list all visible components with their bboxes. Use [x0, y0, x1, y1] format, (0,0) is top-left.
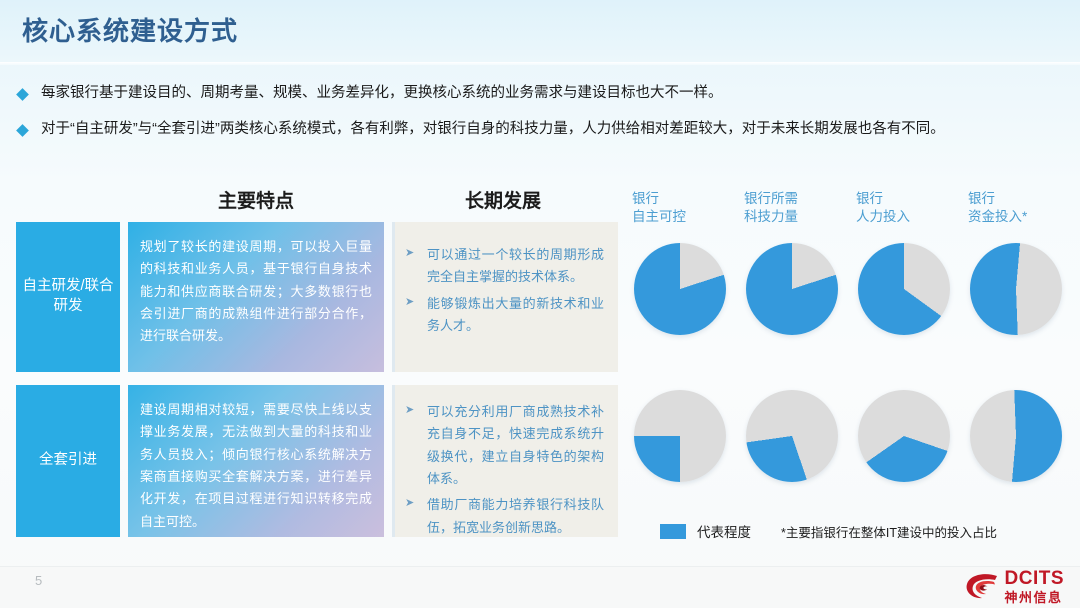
pie-heading-line1: 银行: [632, 190, 736, 208]
page-number: 5: [35, 573, 42, 588]
pie-heading-line2: 资金投入*: [968, 208, 1072, 226]
diamond-bullet-icon: [16, 124, 29, 137]
pie-slot: [624, 390, 736, 482]
legend-label: 代表程度: [697, 521, 751, 541]
row-label-self-develop: 自主研发/联合研发: [16, 222, 120, 372]
column-heading-features: 主要特点: [128, 186, 384, 213]
bullet-list: 每家银行基于建设目的、周期考量、规模、业务差异化，更换核心系统的业务需求与建设目…: [18, 84, 1068, 156]
pie-heading-line2: 人力投入: [856, 208, 960, 226]
pie-heading-line2: 自主可控: [632, 208, 736, 226]
dcits-swirl-icon: [964, 572, 1000, 602]
bullet-item: 每家银行基于建设目的、周期考量、规模、业务差异化，更换核心系统的业务需求与建设目…: [18, 84, 1068, 103]
pie-heading-tech-power: 银行所需 科技力量: [736, 190, 848, 226]
header-divider: [0, 62, 1080, 65]
list-item: ➤ 借助厂商能力培养银行科技队伍，拓宽业务创新思路。: [405, 494, 604, 539]
pie-chart: [746, 390, 838, 482]
chart-legend: 代表程度 *主要指银行在整体IT建设中的投入占比: [660, 521, 997, 541]
pie-chart: [970, 243, 1062, 335]
pie-heading-self-control: 银行 自主可控: [624, 190, 736, 226]
diamond-bullet-icon: [16, 88, 29, 101]
pie-chart-row-self-develop: [624, 243, 1074, 335]
bullet-text: 对于“自主研发”与“全套引进”两类核心系统模式，各有利弊，对银行自身的科技力量，…: [41, 120, 945, 139]
pie-chart: [858, 243, 950, 335]
pie-slot: [736, 390, 848, 482]
row-longterm-list: ➤ 可以通过一个较长的周期形成完全自主掌握的技术体系。 ➤ 能够锻炼出大量的新技…: [392, 222, 618, 372]
logo-text-cn: 神州信息: [1005, 591, 1065, 604]
legend-footnote: *主要指银行在整体IT建设中的投入占比: [781, 522, 997, 541]
list-item: ➤ 可以通过一个较长的周期形成完全自主掌握的技术体系。: [405, 244, 604, 289]
pie-chart-row-full-import: [624, 390, 1074, 482]
pie-slot: [960, 243, 1072, 335]
row-longterm-list: ➤ 可以充分利用厂商成熟技术补充自身不足，快速完成系统升级换代，建立自身特色的架…: [392, 385, 618, 537]
pie-chart: [858, 390, 950, 482]
bullet-text: 每家银行基于建设目的、周期考量、规模、业务差异化，更换核心系统的业务需求与建设目…: [41, 84, 723, 103]
list-item: ➤ 能够锻炼出大量的新技术和业务人才。: [405, 293, 604, 338]
company-logo: DCITS 神州信息: [964, 569, 1065, 604]
pie-heading-line1: 银行: [968, 190, 1072, 208]
matrix-row: 自主研发/联合研发 规划了较长的建设周期，可以投入巨量的科技和业务人员，基于银行…: [16, 222, 618, 372]
pie-heading-line2: 科技力量: [744, 208, 848, 226]
slide-root: 核心系统建设方式 每家银行基于建设目的、周期考量、规模、业务差异化，更换核心系统…: [0, 0, 1080, 608]
legend-swatch-icon: [660, 524, 686, 539]
column-heading-longterm: 长期发展: [390, 186, 616, 213]
arrow-bullet-icon: ➤: [405, 498, 419, 509]
list-item-text: 能够锻炼出大量的新技术和业务人才。: [427, 293, 604, 338]
list-item-text: 借助厂商能力培养银行科技队伍，拓宽业务创新思路。: [427, 494, 604, 539]
pie-heading-line1: 银行所需: [744, 190, 848, 208]
row-features-text: 规划了较长的建设周期，可以投入巨量的科技和业务人员，基于银行自身技术能力和供应商…: [128, 222, 384, 372]
pie-slot: [848, 390, 960, 482]
pie-heading-manpower: 银行 人力投入: [848, 190, 960, 226]
list-item: ➤ 可以充分利用厂商成熟技术补充自身不足，快速完成系统升级换代，建立自身特色的架…: [405, 401, 604, 490]
arrow-bullet-icon: ➤: [405, 405, 419, 416]
pie-chart: [634, 243, 726, 335]
list-item-text: 可以充分利用厂商成熟技术补充自身不足，快速完成系统升级换代，建立自身特色的架构体…: [427, 401, 604, 490]
pie-chart-headings: 银行 自主可控 银行所需 科技力量 银行 人力投入 银行 资金投入*: [624, 190, 1074, 226]
logo-text: DCITS 神州信息: [1005, 569, 1065, 604]
page-title: 核心系统建设方式: [22, 11, 238, 48]
row-label-full-import: 全套引进: [16, 385, 120, 537]
footer-band: [0, 566, 1080, 608]
pie-heading-capital: 银行 资金投入*: [960, 190, 1072, 226]
pie-heading-line1: 银行: [856, 190, 960, 208]
logo-text-en: DCITS: [1005, 569, 1065, 588]
bullet-item: 对于“自主研发”与“全套引进”两类核心系统模式，各有利弊，对银行自身的科技力量，…: [18, 120, 1068, 139]
arrow-bullet-icon: ➤: [405, 248, 419, 259]
pie-slot: [960, 390, 1072, 482]
list-item-text: 可以通过一个较长的周期形成完全自主掌握的技术体系。: [427, 244, 604, 289]
arrow-bullet-icon: ➤: [405, 297, 419, 308]
row-features-text: 建设周期相对较短，需要尽快上线以支撑业务发展，无法做到大量的科技和业务人员投入；…: [128, 385, 384, 537]
matrix-row: 全套引进 建设周期相对较短，需要尽快上线以支撑业务发展，无法做到大量的科技和业务…: [16, 385, 618, 537]
pie-chart: [970, 390, 1062, 482]
pie-slot: [848, 243, 960, 335]
pie-chart: [634, 390, 726, 482]
pie-slot: [624, 243, 736, 335]
pie-slot: [736, 243, 848, 335]
pie-chart: [746, 243, 838, 335]
